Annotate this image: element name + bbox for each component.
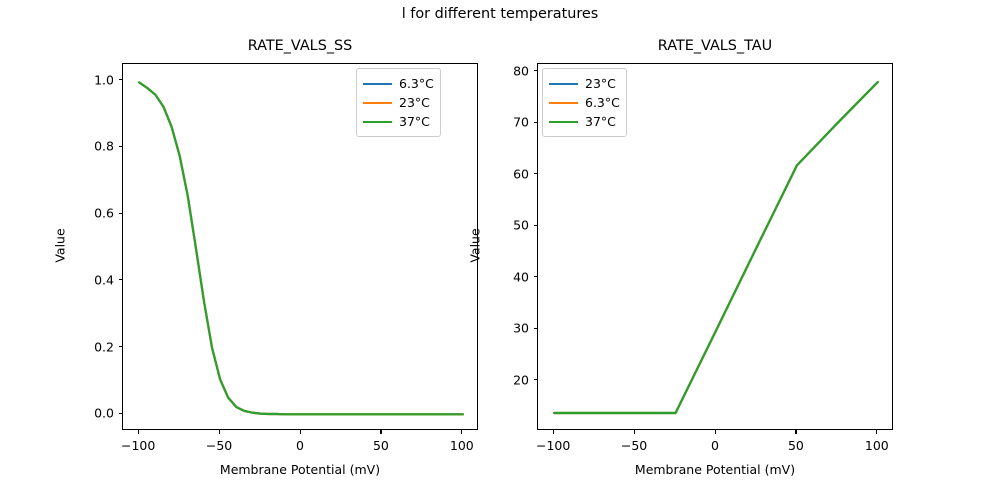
ytick-mark [119,146,123,147]
xtick-label: −50 [206,438,232,453]
xtick-mark [553,430,554,434]
ytick-label: 20 [477,372,529,387]
ytick-label: 0.4 [62,272,114,287]
legend-left[interactable]: 6.3°C23°C37°C [356,68,441,137]
xtick-mark [138,430,139,434]
ytick-mark [534,173,538,174]
ytick-label: 80 [477,63,529,78]
xtick-mark [219,430,220,434]
legend-color-swatch [363,121,392,123]
ytick-mark [119,413,123,414]
xaxis-label-right: Membrane Potential (mV) [537,462,893,477]
legend-color-swatch [549,121,578,123]
ytick-label: 0.2 [62,339,114,354]
xtick-label: 0 [296,438,304,453]
xtick-mark [876,430,877,434]
ytick-label: 0.0 [62,406,114,421]
legend-color-swatch [363,83,392,85]
matplotlib-figure: l for different temperatures RATE_VALS_S… [0,0,1000,500]
xtick-mark [634,430,635,434]
ytick-mark [534,122,538,123]
xtick-label: 0 [711,438,719,453]
ytick-mark [119,79,123,80]
ytick-mark [119,213,123,214]
ytick-mark [534,379,538,380]
legend-color-swatch [363,102,392,104]
xtick-mark [795,430,796,434]
ytick-label: 70 [477,115,529,130]
ytick-label: 60 [477,166,529,181]
legend-color-swatch [549,83,578,85]
xtick-mark [300,430,301,434]
ytick-label: 1.0 [62,72,114,87]
legend-label: 23°C [585,76,616,91]
xtick-label: 50 [373,438,389,453]
ytick-mark [119,346,123,347]
xtick-label: 100 [450,438,474,453]
xtick-label: 50 [788,438,804,453]
legend-label: 6.3°C [399,76,434,91]
ytick-label: 0.8 [62,139,114,154]
legend-entry[interactable]: 6.3°C [363,74,434,93]
legend-entry[interactable]: 37°C [363,112,434,131]
ytick-label: 50 [477,218,529,233]
xtick-mark [461,430,462,434]
yaxis-label-left: Value [53,185,68,305]
ytick-mark [534,70,538,71]
ytick-label: 40 [477,269,529,284]
ytick-label: 30 [477,321,529,336]
xtick-label: −100 [536,438,570,453]
xtick-mark [380,430,381,434]
xaxis-label-left: Membrane Potential (mV) [122,462,478,477]
subplot-title-left: RATE_VALS_SS [122,38,478,54]
legend-label: 23°C [399,95,430,110]
ytick-mark [534,328,538,329]
xtick-label: 100 [865,438,889,453]
legend-label: 6.3°C [585,95,620,110]
subplot-title-right: RATE_VALS_TAU [537,38,893,54]
xtick-mark [715,430,716,434]
figure-suptitle: l for different temperatures [0,6,1000,22]
ytick-mark [534,225,538,226]
xtick-label: −50 [621,438,647,453]
legend-entry[interactable]: 23°C [363,93,434,112]
ytick-mark [119,279,123,280]
legend-label: 37°C [399,114,430,129]
legend-entry[interactable]: 23°C [549,74,620,93]
legend-color-swatch [549,102,578,104]
legend-entry[interactable]: 37°C [549,112,620,131]
legend-entry[interactable]: 6.3°C [549,93,620,112]
ytick-label: 0.6 [62,206,114,221]
ytick-mark [534,276,538,277]
legend-right[interactable]: 23°C6.3°C37°C [542,68,627,137]
legend-label: 37°C [585,114,616,129]
xtick-label: −100 [121,438,155,453]
yaxis-label-right: Value [468,185,483,305]
